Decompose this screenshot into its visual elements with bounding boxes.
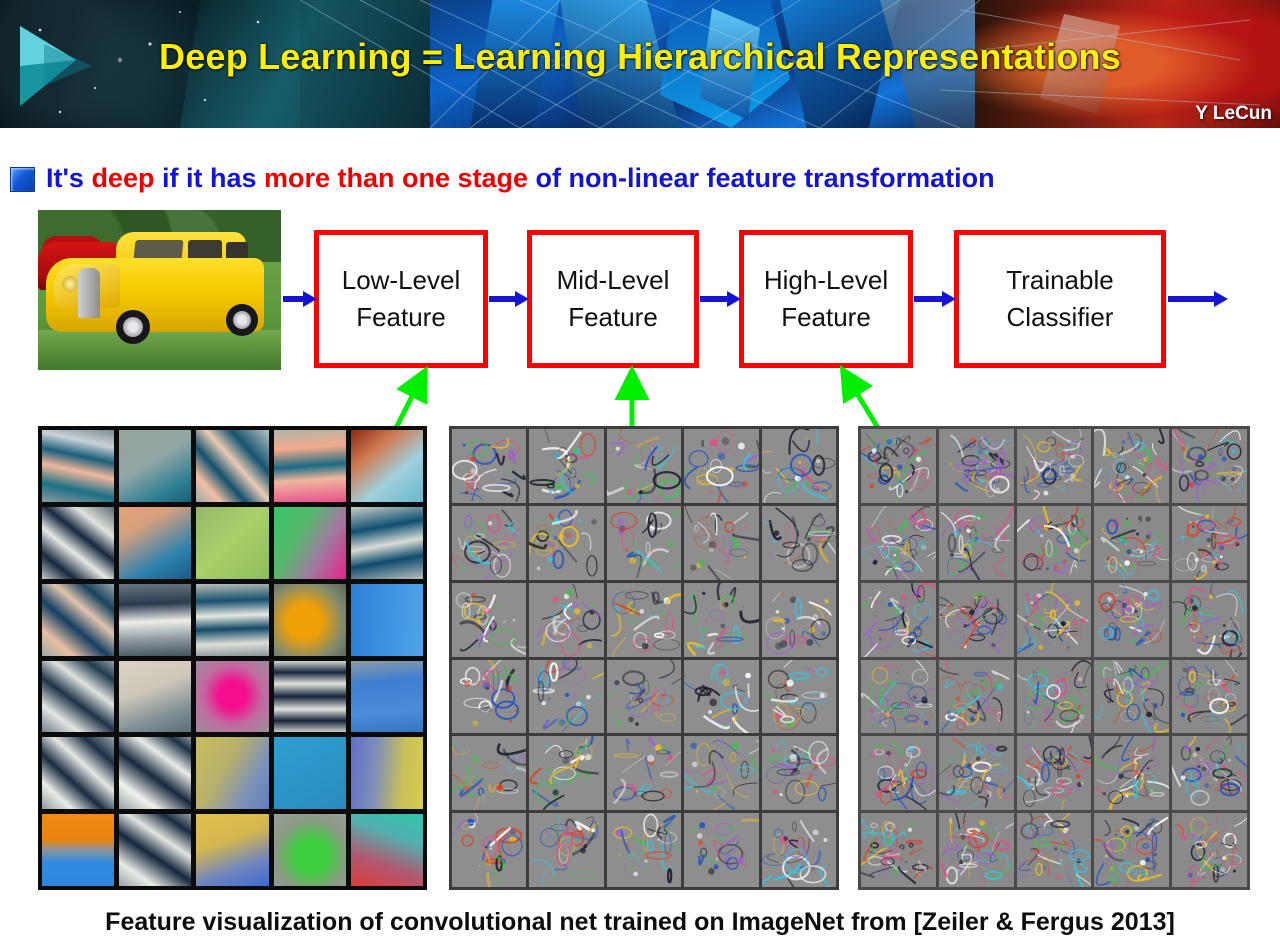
feature-cell: [762, 583, 836, 657]
feature-cell: [452, 813, 526, 887]
pipeline-diagram: Low-Level Feature Mid-Level Feature High…: [0, 200, 1280, 410]
feature-cell: [1172, 736, 1247, 810]
feature-cell: [351, 737, 423, 809]
feature-cell: [1094, 660, 1169, 734]
feature-cell: [1017, 736, 1092, 810]
stage-box-mid-level-feature[interactable]: Mid-Level Feature: [527, 230, 699, 368]
feature-cell: [939, 583, 1014, 657]
feature-cell: [762, 660, 836, 734]
stage-box-low-level-feature[interactable]: Low-Level Feature: [314, 230, 488, 368]
feature-cell: [42, 584, 114, 656]
feature-cell: [42, 507, 114, 579]
feature-cell: [861, 583, 936, 657]
feature-cell: [684, 429, 758, 503]
blue-square-bullet-icon: [10, 167, 35, 192]
feature-cell: [351, 584, 423, 656]
feature-cell: [607, 506, 681, 580]
flow-arrow-icon-5: [1168, 290, 1228, 308]
flow-arrow-icon-3: [700, 290, 741, 308]
feature-cell: [119, 430, 191, 502]
slide-title: Deep Learning = Learning Hierarchical Re…: [0, 36, 1280, 78]
stage-box-line1: High-Level: [764, 262, 888, 299]
author-label: Y LeCun: [1195, 103, 1272, 125]
stage-box-line1: Trainable: [1006, 262, 1113, 299]
feature-cell: [861, 736, 936, 810]
mid-level-feature-grid: [449, 426, 839, 890]
feature-cell: [684, 813, 758, 887]
feature-cell: [119, 814, 191, 886]
feature-cell: [452, 736, 526, 810]
figure-caption: Feature visualization of convolutional n…: [0, 908, 1280, 937]
feature-cell: [939, 736, 1014, 810]
feature-cell: [939, 660, 1014, 734]
feature-cell: [274, 507, 346, 579]
feature-cell: [351, 661, 423, 733]
flow-arrow-icon-4: [914, 290, 956, 308]
feature-cell: [861, 660, 936, 734]
feature-cell: [1172, 583, 1247, 657]
feature-cell: [939, 506, 1014, 580]
high-level-feature-grid: [858, 426, 1250, 890]
feature-cell: [939, 429, 1014, 503]
bullet-row: It's deep if it has more than one stage …: [10, 158, 1270, 198]
feature-cell: [196, 507, 268, 579]
feature-cell: [119, 507, 191, 579]
feature-cell: [1017, 813, 1092, 887]
feature-cell: [607, 813, 681, 887]
stage-box-high-level-feature[interactable]: High-Level Feature: [739, 230, 913, 368]
flow-arrow-icon-1: [283, 290, 317, 308]
low-level-feature-grid: [38, 426, 427, 890]
feature-cell: [529, 660, 603, 734]
feature-cell: [939, 813, 1014, 887]
stage-box-line2: Classifier: [1007, 299, 1114, 336]
feature-cell: [42, 430, 114, 502]
bullet-segment-5: of non-linear feature transformation: [536, 163, 995, 193]
feature-cell: [861, 813, 936, 887]
feature-cell: [861, 429, 936, 503]
feature-cell: [861, 506, 936, 580]
feature-cell: [274, 814, 346, 886]
feature-cell: [1172, 506, 1247, 580]
feature-cell: [274, 430, 346, 502]
stage-box-trainable-classifier[interactable]: Trainable Classifier: [954, 230, 1166, 368]
feature-cell: [684, 736, 758, 810]
feature-cell: [1172, 813, 1247, 887]
feature-cell: [762, 506, 836, 580]
bullet-segment-3: if it has: [162, 163, 264, 193]
feature-cell: [529, 583, 603, 657]
bullet-segment-1: It's: [46, 163, 91, 193]
feature-cell: [119, 661, 191, 733]
feature-cell: [1017, 583, 1092, 657]
feature-cell: [607, 660, 681, 734]
bullet-text: It's deep if it has more than one stage …: [46, 165, 995, 192]
feature-cell: [42, 661, 114, 733]
feature-cell: [762, 736, 836, 810]
header-banner: Deep Learning = Learning Hierarchical Re…: [0, 0, 1280, 128]
feature-cell: [529, 429, 603, 503]
feature-cell: [1094, 813, 1169, 887]
feature-cell: [1094, 583, 1169, 657]
feature-cell: [1017, 429, 1092, 503]
feature-cell: [529, 736, 603, 810]
yellow-hot-rod-car-photo: [38, 210, 281, 370]
feature-cell: [452, 506, 526, 580]
feature-cell: [1094, 736, 1169, 810]
feature-cell: [684, 583, 758, 657]
feature-cell: [607, 429, 681, 503]
bullet-segment-4: more than one stage: [264, 163, 536, 193]
feature-cell: [119, 584, 191, 656]
feature-cell: [274, 661, 346, 733]
feature-cell: [762, 813, 836, 887]
feature-cell: [196, 737, 268, 809]
feature-cell: [1094, 429, 1169, 503]
feature-cell: [452, 583, 526, 657]
feature-cell: [196, 661, 268, 733]
feature-cell: [607, 583, 681, 657]
stage-box-line1: Low-Level: [342, 262, 461, 299]
feature-cell: [684, 506, 758, 580]
feature-cell: [1017, 660, 1092, 734]
feature-cell: [1017, 506, 1092, 580]
feature-cell: [1172, 660, 1247, 734]
feature-cell: [529, 506, 603, 580]
stage-box-line2: Feature: [568, 299, 658, 336]
feature-cell: [351, 814, 423, 886]
feature-cell: [196, 814, 268, 886]
bullet-segment-2: deep: [91, 163, 162, 193]
feature-cell: [452, 660, 526, 734]
feature-cell: [274, 584, 346, 656]
stage-box-line1: Mid-Level: [557, 262, 670, 299]
feature-cell: [119, 737, 191, 809]
feature-cell: [42, 814, 114, 886]
flow-arrow-icon-2: [489, 290, 529, 308]
feature-cell: [274, 737, 346, 809]
feature-cell: [684, 660, 758, 734]
feature-cell: [42, 737, 114, 809]
feature-cell: [529, 813, 603, 887]
feature-cell: [196, 430, 268, 502]
feature-cell: [1094, 506, 1169, 580]
stage-box-line2: Feature: [356, 299, 446, 336]
feature-cell: [607, 736, 681, 810]
stage-box-line2: Feature: [781, 299, 871, 336]
feature-cell: [196, 584, 268, 656]
feature-cell: [762, 429, 836, 503]
feature-cell: [1172, 429, 1247, 503]
feature-cell: [351, 430, 423, 502]
feature-cell: [452, 429, 526, 503]
feature-cell: [351, 507, 423, 579]
